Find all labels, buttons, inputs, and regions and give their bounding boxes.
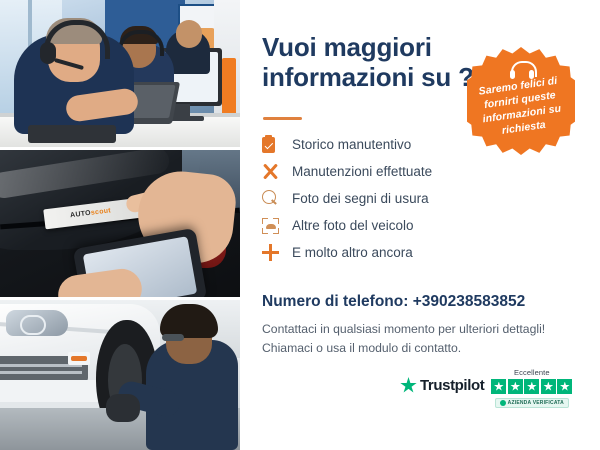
advertisement-banner: AUTOscout — [0, 0, 600, 450]
car-scan-icon — [262, 218, 292, 234]
verified-business-label: AZIENDA VERIFICATA — [508, 400, 564, 406]
feature-label: Foto dei segni di usura — [292, 191, 429, 206]
trustpilot-rating: Eccellente AZIENDA VERIFICATA — [491, 368, 572, 408]
feature-item-storico-manutentivo: Storico manutentivo — [262, 131, 492, 158]
rating-star-2 — [508, 379, 523, 394]
page-title: Vuoi maggiori informazioni su ? — [262, 33, 477, 92]
verified-business-badge: AZIENDA VERIFICATA — [495, 398, 569, 408]
trustpilot-brand-label: Trustpilot — [420, 377, 484, 394]
check-icon — [500, 400, 506, 406]
headset-icon — [511, 61, 533, 77]
mechanic-glasses-decor — [162, 334, 184, 341]
rating-star-5 — [557, 379, 572, 394]
uniform-badge-decor — [68, 352, 90, 365]
tools-cross-icon — [262, 163, 292, 180]
rating-star-4 — [541, 379, 556, 394]
rating-star-3 — [524, 379, 539, 394]
content-panel: Vuoi maggiori informazioni su ? Saremo f… — [240, 0, 600, 450]
photo-call-center — [0, 0, 240, 147]
mechanic-glove-decor — [106, 394, 140, 422]
second-hand-decor — [56, 266, 145, 297]
feature-item-altre-foto-veicolo: Altre foto del veicolo — [262, 212, 492, 239]
feature-item-manutenzioni-effettuate: Manutenzioni effettuate — [262, 158, 492, 185]
trustpilot-star-rating — [491, 379, 572, 394]
photo-mechanic-tire — [0, 300, 240, 450]
desk-mat-decor — [28, 125, 116, 143]
trustpilot-widget[interactable]: Trustpilot Eccellente AZIENDA VERIFICATA — [400, 368, 590, 408]
feature-label: Manutenzioni effettuate — [292, 164, 432, 179]
features-list: Storico manutentivo Manutenzioni effettu… — [262, 131, 492, 266]
feature-label: Storico manutentivo — [292, 137, 411, 152]
clipboard-check-icon — [262, 137, 292, 153]
contact-subtext: Contattaci in qualsiasi momento per ulte… — [262, 320, 562, 357]
trustpilot-rating-label: Eccellente — [514, 368, 550, 377]
title-underline-divider — [263, 117, 302, 120]
rating-star-1 — [491, 379, 506, 394]
card-logo-decor: AUTOscout — [70, 207, 112, 219]
plus-icon — [262, 244, 292, 261]
headlight-ring-decor — [20, 315, 46, 335]
feature-label: E molto altro ancora — [292, 245, 413, 260]
photo-column: AUTOscout — [0, 0, 240, 450]
feature-item-foto-segni-usura: Foto dei segni di usura — [262, 185, 492, 212]
photo-paint-measurement: AUTOscout — [0, 150, 240, 297]
trustpilot-star-icon — [400, 377, 417, 394]
magnifier-icon — [262, 190, 292, 207]
person-background-head-decor — [176, 20, 202, 48]
feature-item-molto-altro: E molto altro ancora — [262, 239, 492, 266]
feature-label: Altre foto del veicolo — [292, 218, 414, 233]
trustpilot-brand: Trustpilot — [400, 368, 484, 394]
phone-number-line[interactable]: Numero di telefono: +390238583852 — [262, 293, 525, 311]
